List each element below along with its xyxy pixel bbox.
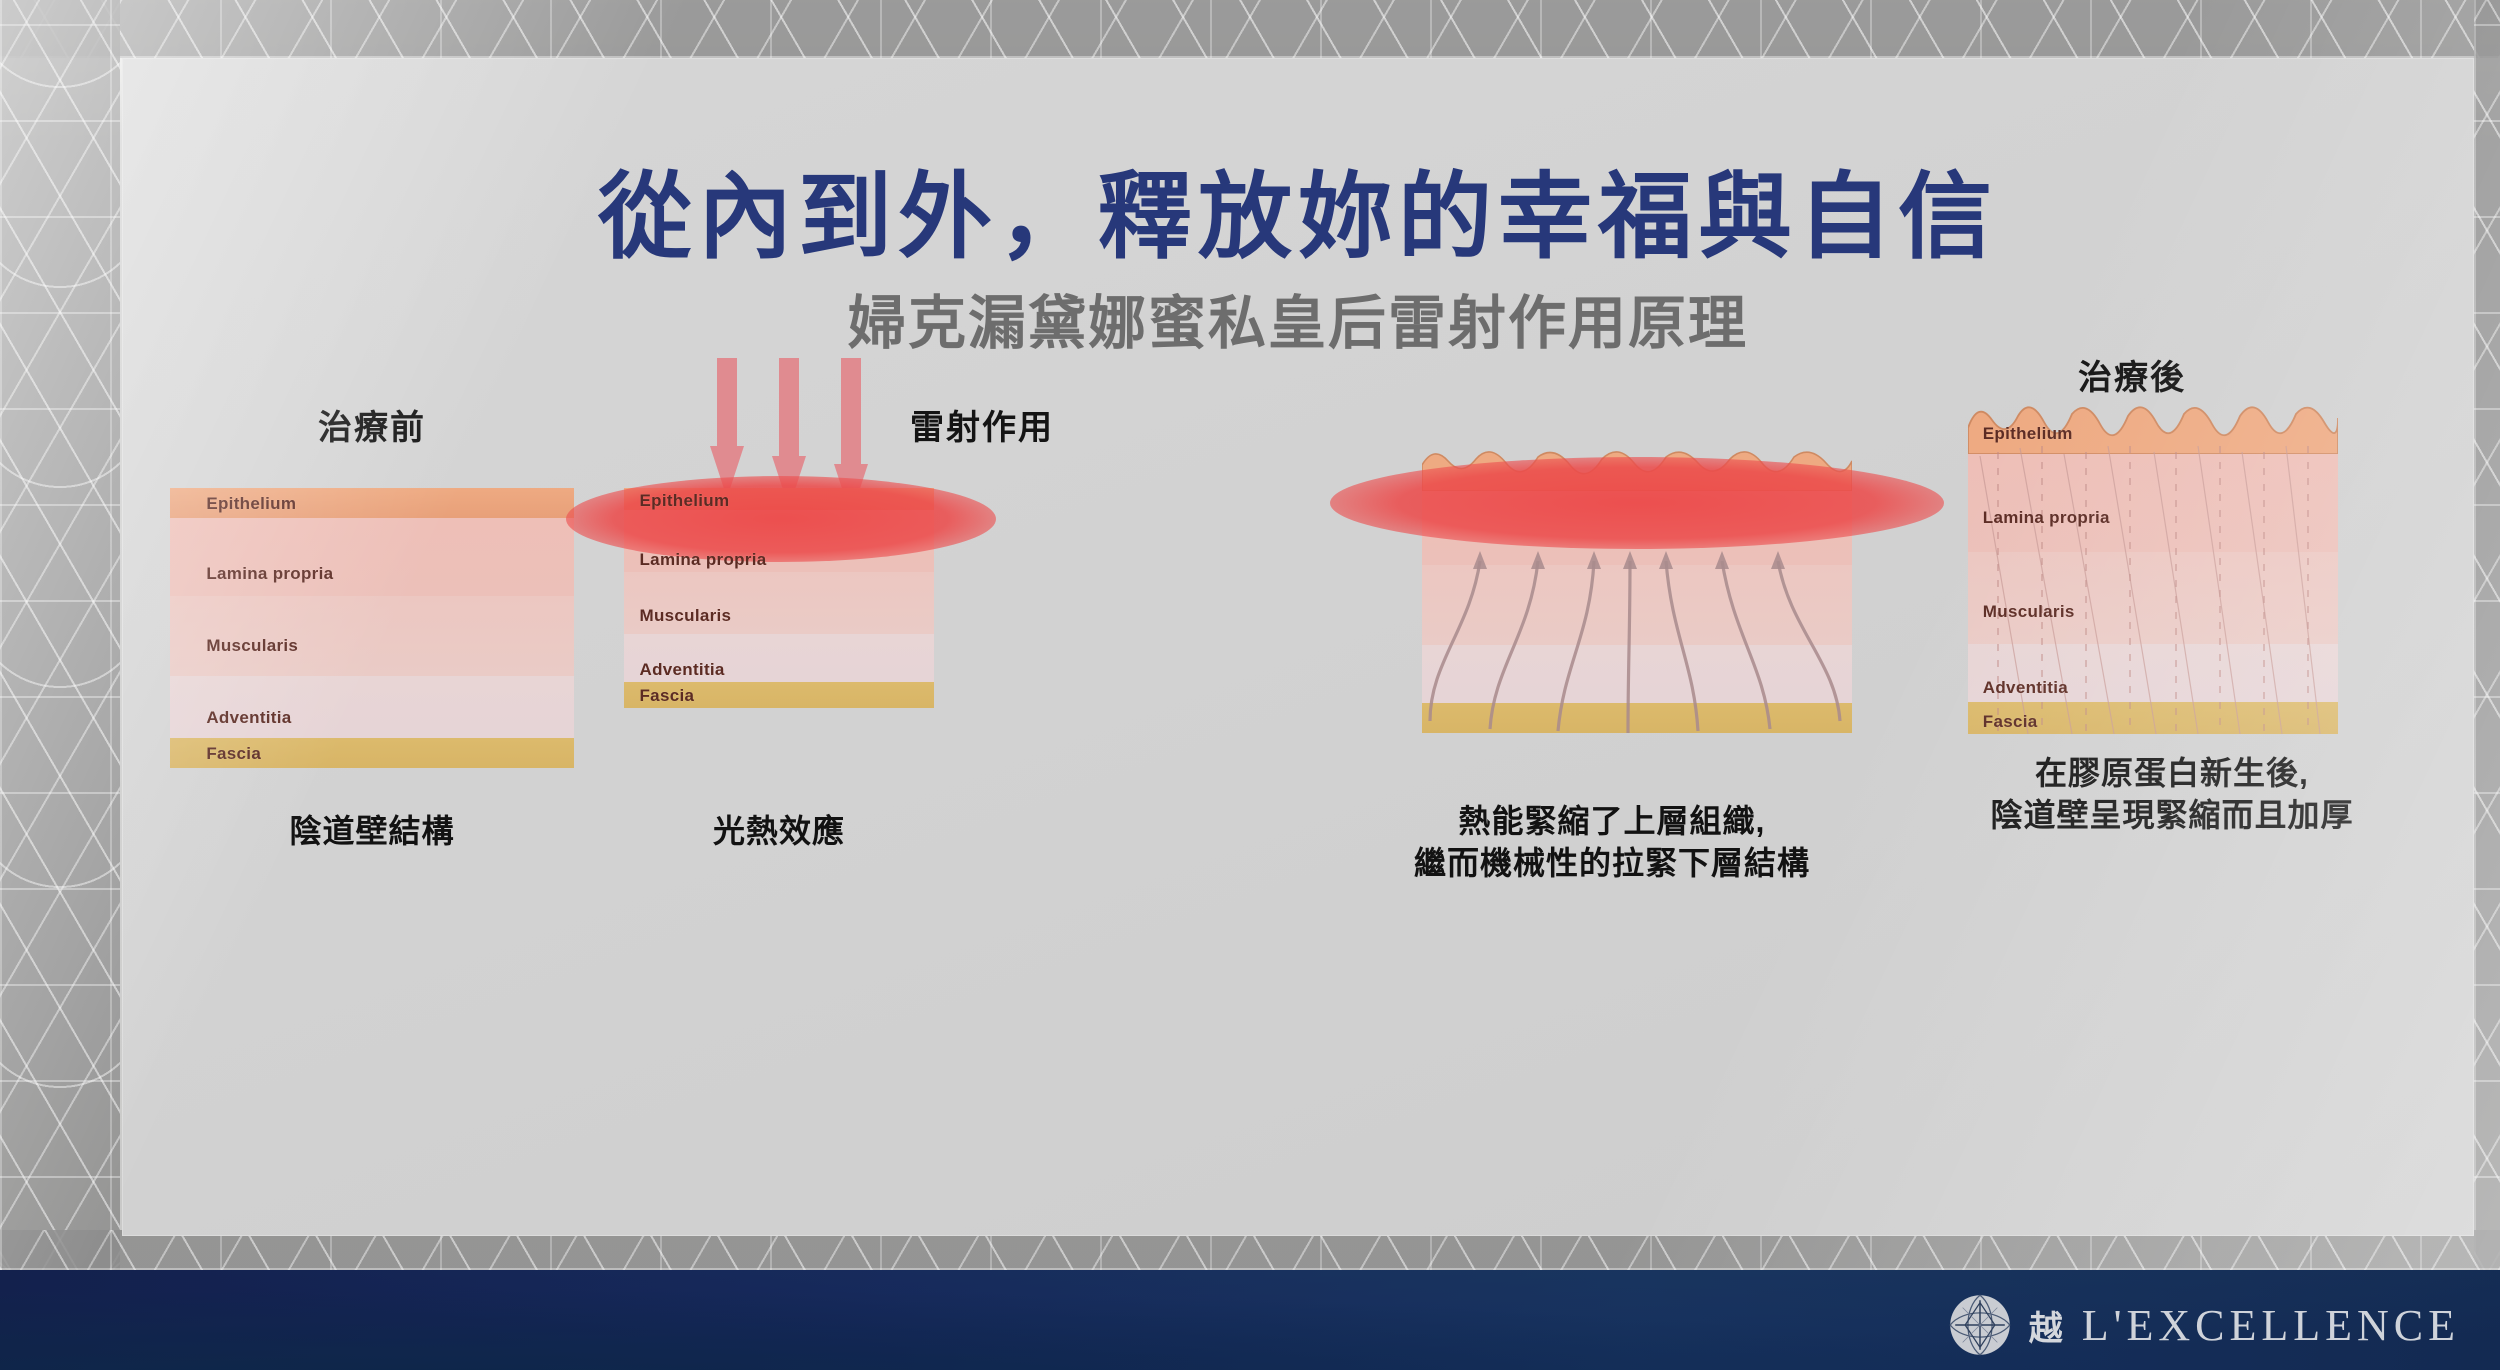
decorative-lattice-bottom xyxy=(0,1230,2500,1270)
panel-tightening-tissue xyxy=(1422,453,1852,733)
label-fascia: Fascia xyxy=(206,744,261,764)
page-subtitle: 婦克漏黛娜蜜私皇后雷射作用原理 xyxy=(122,292,2474,356)
panel-after-tissue: Epithelium Lamina propria Muscularis Adv… xyxy=(1968,416,2338,734)
panel-after-caption-line2: 陰道壁呈現緊縮而且加厚 xyxy=(1912,794,2432,836)
label-fascia: Fascia xyxy=(1983,712,2038,732)
panel-photothermal-caption: 光熱效應 xyxy=(564,810,994,852)
label-lamina-propria: Lamina propria xyxy=(1983,508,2110,528)
brand-logo-cn: 越 xyxy=(2029,1301,2064,1350)
diagram-panel-row: 治療前 Epithelium Lamina propria Muscularis… xyxy=(122,358,2474,1158)
panel-before-tissue: Epithelium Lamina propria Muscularis Adv… xyxy=(170,488,574,768)
brand-logo-en: L'EXCELLENCE xyxy=(2082,1300,2460,1351)
photothermal-heat-zone xyxy=(566,476,996,562)
tissue-tension-arrows xyxy=(1422,453,1852,733)
decorative-lattice-top xyxy=(0,0,2500,58)
layer-lamina-propria xyxy=(170,518,574,596)
label-muscularis: Muscularis xyxy=(206,636,298,656)
label-lamina-propria: Lamina propria xyxy=(206,564,333,584)
panel-photothermal-heading: 雷射作用 xyxy=(822,400,1142,449)
panel-tightening-caption-line1: 熱能緊縮了上層組織, xyxy=(1342,800,1882,842)
lexcellence-emblem-icon xyxy=(1949,1294,2011,1356)
panel-before-caption: 陰道壁結構 xyxy=(102,810,642,852)
label-epithelium: Epithelium xyxy=(1983,424,2073,444)
label-muscularis: Muscularis xyxy=(640,606,732,626)
layer-adventitia xyxy=(170,676,574,738)
panel-tightening-caption-line2: 繼而機械性的拉緊下層結構 xyxy=(1342,842,1882,884)
panel-after-caption: 在膠原蛋白新生後, 陰道壁呈現緊縮而且加厚 xyxy=(1912,752,2432,836)
label-adventitia: Adventitia xyxy=(1983,678,2068,698)
label-adventitia: Adventitia xyxy=(206,708,291,728)
content-card: 從內到外，釋放妳的幸福與自信 婦克漏黛娜蜜私皇后雷射作用原理 治療前 Epith… xyxy=(122,58,2474,1236)
label-fascia: Fascia xyxy=(640,686,695,706)
decorative-lattice-arcs xyxy=(0,0,120,1370)
panel-after-caption-line1: 在膠原蛋白新生後, xyxy=(1912,752,2432,794)
label-muscularis: Muscularis xyxy=(1983,602,2075,622)
footer-band: 越 L'EXCELLENCE xyxy=(0,1270,2500,1370)
slide-root: 從內到外，釋放妳的幸福與自信 婦克漏黛娜蜜私皇后雷射作用原理 治療前 Epith… xyxy=(0,0,2500,1370)
panel-photothermal-tissue: Epithelium Lamina propria Muscularis Adv… xyxy=(624,488,934,708)
label-adventitia: Adventitia xyxy=(640,660,725,680)
label-epithelium: Epithelium xyxy=(640,491,730,511)
panel-tightening-caption: 熱能緊縮了上層組織, 繼而機械性的拉緊下層結構 xyxy=(1342,800,1882,884)
panel-before-heading: 治療前 xyxy=(162,400,582,449)
label-lamina-propria: Lamina propria xyxy=(640,550,767,570)
label-epithelium: Epithelium xyxy=(206,494,296,514)
brand-logo: 越 L'EXCELLENCE xyxy=(1949,1294,2460,1356)
page-title: 從內到外，釋放妳的幸福與自信 xyxy=(122,169,2474,269)
decorative-lattice-right xyxy=(2474,0,2500,1370)
